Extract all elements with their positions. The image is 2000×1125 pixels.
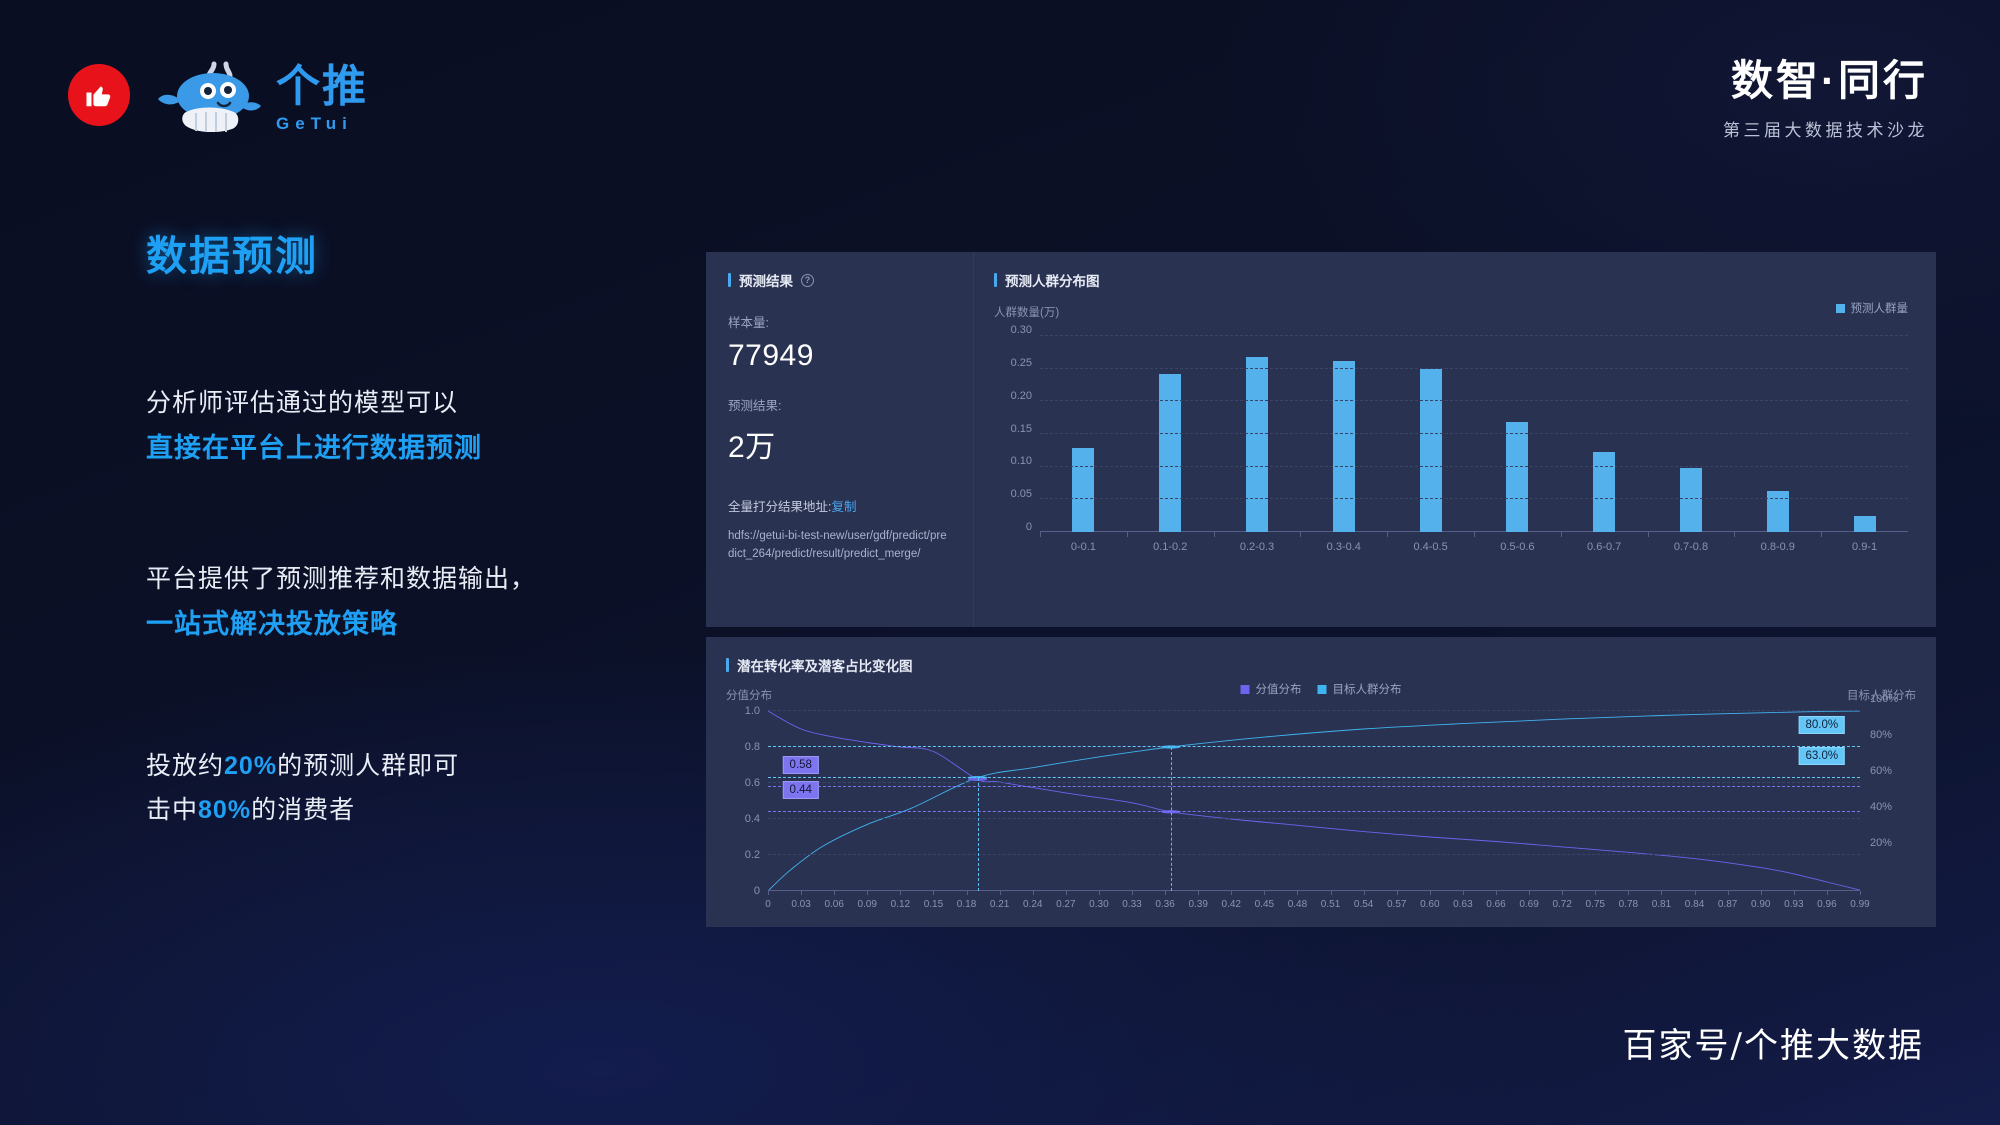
line-x-tickmark (867, 891, 868, 895)
line-chart-header: 潜在转化率及潜客占比变化图 (726, 655, 1916, 675)
line-x-tickmark (1728, 891, 1729, 895)
line-series-svg (768, 711, 1860, 891)
gridline: 0.6 (768, 782, 1860, 783)
page-title: 数据预测 (146, 222, 318, 282)
line-left-axis-name: 分值分布 (726, 687, 772, 703)
legend-item[interactable]: 目标人群分布 (1318, 681, 1402, 697)
line-x-tick-label: 0.87 (1718, 899, 1737, 910)
event-title: 数智·同行 (1723, 56, 1928, 106)
conversion-rate-title: 潜在转化率及潜客占比变化图 (726, 655, 913, 675)
line-x-tick-label: 0.39 (1188, 899, 1207, 910)
bar-x-tick-label: 0.2-0.3 (1240, 541, 1274, 553)
bar-y-tick: 0.15 (1011, 423, 1032, 435)
line-x-tickmark (1695, 891, 1696, 895)
line-x-tick-label: 0.63 (1453, 899, 1472, 910)
gridline: 0.10 (1040, 466, 1908, 467)
line-x-tick-label: 0.54 (1354, 899, 1373, 910)
bar[interactable] (1333, 361, 1355, 532)
bar-slot[interactable]: 0.1-0.2 (1127, 326, 1214, 532)
bar-slot[interactable]: 0-0.1 (1040, 326, 1127, 532)
line-x-tick-label: 0.33 (1122, 899, 1141, 910)
line-x-tick-label: 0.30 (1089, 899, 1108, 910)
annotation-guide-line (768, 777, 1860, 778)
legend-item[interactable]: 分值分布 (1241, 681, 1302, 697)
bar-slot[interactable]: 0.2-0.3 (1214, 326, 1301, 532)
bar[interactable] (1506, 422, 1528, 532)
line-x-tick-label: 0.06 (824, 899, 843, 910)
line-x-tick-label: 0.48 (1288, 899, 1307, 910)
line-x-tickmark (1430, 891, 1431, 895)
line-plot-area: 00.20.40.60.81.020%40%60%80%100%00.030.0… (726, 707, 1916, 915)
line-x-tickmark (1529, 891, 1530, 895)
bar-x-tickmark (1127, 532, 1128, 537)
line-x-tick-label: 0.69 (1519, 899, 1538, 910)
legend-swatch (1241, 685, 1250, 694)
line-x-tick-label: 0.84 (1685, 899, 1704, 910)
line-x-tick-label: 0 (765, 899, 771, 910)
top-panel: 预测结果 ? 样本量: 77949 预测结果: 2万 全量打分结果地址:复制 h… (706, 252, 1936, 627)
stat-line-1: 投放约20%的预测人群即可 (146, 745, 459, 789)
question-mark-icon[interactable]: ? (801, 274, 814, 287)
legend-swatch (1836, 304, 1845, 313)
stat-suffix: 的预测人群即可 (277, 752, 459, 780)
copy-block-1: 分析师评估通过的模型可以 直接在平台上进行数据预测 (146, 382, 482, 465)
result-value: 2万 (728, 422, 951, 466)
bar-x-tick-label: 0.1-0.2 (1153, 541, 1187, 553)
stat-line-2: 击中80%的消费者 (146, 789, 459, 833)
gridline: 0 (768, 890, 1860, 891)
bar-chart-legend: 预测人群量 (1836, 300, 1909, 316)
brand-name-cn: 个推 (276, 65, 368, 109)
line-x-tick-label: 0.90 (1751, 899, 1770, 910)
bar-x-tickmark (1387, 532, 1388, 537)
line-x-tickmark (1331, 891, 1332, 895)
line-x-tickmark (1000, 891, 1001, 895)
population-distribution-title: 预测人群分布图 (994, 270, 1916, 290)
bar-y-axis-name: 人群数量(万) (994, 304, 1916, 320)
result-label: 预测结果: (728, 395, 951, 414)
line-x-tick-label: 0.72 (1552, 899, 1571, 910)
line-x-tick-label: 0.78 (1619, 899, 1638, 910)
line-x-tickmark (1595, 891, 1596, 895)
line-x-tick-label: 0.66 (1486, 899, 1505, 910)
line-y2-tick: 100% (1870, 693, 1898, 705)
line-x-tickmark (967, 891, 968, 895)
bar-x-tickmark (1734, 532, 1735, 537)
brand-logo-group: 个推 GeTui (68, 58, 368, 132)
line-x-tick-label: 0.12 (891, 899, 910, 910)
bar-y-tick: 0.05 (1011, 488, 1032, 500)
sample-size-value: 77949 (728, 339, 951, 373)
legend-swatch (1318, 685, 1327, 694)
bar-x-tick-label: 0.9-1 (1852, 541, 1877, 553)
thumbs-up-icon (68, 64, 130, 126)
line-x-tickmark (1231, 891, 1232, 895)
line-x-tick-label: 0.51 (1321, 899, 1340, 910)
bar-x-tick-label: 0.3-0.4 (1327, 541, 1361, 553)
population-distribution-card: 预测人群分布图 人群数量(万) 预测人群量 0-0.10.1-0.20.2-0.… (974, 252, 1936, 627)
line-x-tickmark (801, 891, 802, 895)
hdfs-path-value: hdfs://getui-bi-test-new/user/gdf/predic… (728, 527, 951, 564)
card-title-text: 预测人群分布图 (1005, 270, 1100, 290)
line-y2-tick: 80% (1870, 729, 1892, 741)
score-address-row: 全量打分结果地址:复制 (728, 496, 951, 515)
copy-link[interactable]: 复制 (831, 500, 856, 514)
line-y-tick: 0.4 (745, 813, 760, 825)
stat-suffix: 的消费者 (251, 796, 355, 824)
line-x-tickmark (1496, 891, 1497, 895)
line-x-tickmark (1099, 891, 1100, 895)
annotation-guide-line (768, 786, 1860, 787)
chart-annotation-label: 80.0% (1798, 716, 1845, 734)
bar-x-tick-label: 0.5-0.6 (1500, 541, 1534, 553)
copy-line-normal: 平台提供了预测推荐和数据输出， (146, 558, 536, 602)
bar-x-tick-label: 0.4-0.5 (1413, 541, 1447, 553)
bar-x-tickmark (1300, 532, 1301, 537)
legend-label: 预测人群量 (1851, 300, 1909, 316)
line-x-tickmark (1364, 891, 1365, 895)
gridline: 0.25 (1040, 368, 1908, 369)
conversion-rate-card: 潜在转化率及潜客占比变化图 分值分布 目标人群分布 分值分布 目标人群分布 (706, 637, 1936, 927)
bar-y-tick: 0 (1026, 521, 1032, 533)
line-y2-tick: 40% (1870, 801, 1892, 813)
line-x-tick-label: 0.81 (1652, 899, 1671, 910)
copy-block-3: 投放约20%的预测人群即可 击中80%的消费者 (146, 745, 459, 833)
card-title-text: 预测结果 (739, 270, 793, 290)
copy-line-highlight: 直接在平台上进行数据预测 (146, 426, 482, 465)
line-plot-inner: 00.20.40.60.81.020%40%60%80%100%00.030.0… (768, 711, 1860, 891)
gridline: 0.15 (1040, 433, 1908, 434)
bar-y-tick: 0.20 (1011, 390, 1032, 402)
bar[interactable] (1680, 468, 1702, 532)
sample-size-label: 样本量: (728, 312, 951, 331)
bar-x-tick-label: 0-0.1 (1071, 541, 1096, 553)
line-x-tick-label: 0.21 (990, 899, 1009, 910)
stat-prefix: 击中 (146, 796, 198, 824)
stat-number: 20% (224, 752, 277, 780)
bar-y-tick: 0.25 (1011, 357, 1032, 369)
annotation-guide-vertical (978, 778, 979, 891)
gridline: 0.2 (768, 854, 1860, 855)
line-y2-tick: 60% (1870, 765, 1892, 777)
bar[interactable] (1854, 516, 1876, 532)
line-x-tickmark (1198, 891, 1199, 895)
bar-slot[interactable]: 0.8-0.9 (1734, 326, 1821, 532)
footer-credit: 百家号/个推大数据 (1623, 1018, 1924, 1067)
annotation-guide-vertical (1171, 747, 1172, 891)
bar-y-tick: 0.10 (1011, 455, 1032, 467)
prediction-result-card: 预测结果 ? 样本量: 77949 预测结果: 2万 全量打分结果地址:复制 h… (706, 252, 974, 627)
line-x-tick-label: 0.24 (1023, 899, 1042, 910)
dashboard-screenshot: 预测结果 ? 样本量: 77949 预测结果: 2万 全量打分结果地址:复制 h… (706, 252, 1936, 927)
bar[interactable] (1593, 452, 1615, 532)
bar-slot[interactable]: 0.6-0.7 (1561, 326, 1648, 532)
legend-item[interactable]: 预测人群量 (1836, 300, 1909, 316)
copy-line-normal: 分析师评估通过的模型可以 (146, 382, 482, 426)
bar-x-tickmark (1474, 532, 1475, 537)
annotation-guide-line (768, 811, 1860, 812)
line-x-tick-label: 0.27 (1056, 899, 1075, 910)
bar-x-tick-label: 0.6-0.7 (1587, 541, 1621, 553)
line-x-tickmark (1661, 891, 1662, 895)
bar-x-tickmark (1561, 532, 1562, 537)
gridline: 0.05 (1040, 498, 1908, 499)
line-x-tickmark (1794, 891, 1795, 895)
line-y-tick: 0.8 (745, 741, 760, 753)
slide-root: 个推 GeTui 数智·同行 第三届大数据技术沙龙 数据预测 分析师评估通过的模… (0, 0, 2000, 1125)
bar-slot[interactable]: 0.7-0.8 (1648, 326, 1735, 532)
line-x-tickmark (1264, 891, 1265, 895)
line-x-tickmark (1397, 891, 1398, 895)
bar-slot[interactable]: 0.4-0.5 (1387, 326, 1474, 532)
line-x-tick-label: 0.93 (1784, 899, 1803, 910)
line-x-tickmark (900, 891, 901, 895)
bar[interactable] (1420, 369, 1442, 532)
annotation-guide-line (768, 746, 1860, 747)
chart-annotation-label: 63.0% (1798, 747, 1845, 765)
line-x-tickmark (1033, 891, 1034, 895)
line-x-tick-label: 0.15 (924, 899, 943, 910)
line-y-tick: 0 (754, 885, 760, 897)
line-x-tickmark (834, 891, 835, 895)
line-x-tick-label: 0.09 (858, 899, 877, 910)
copy-line-highlight: 一站式解决投放策略 (146, 602, 536, 641)
legend-label: 目标人群分布 (1333, 681, 1402, 697)
line-x-tickmark (1860, 891, 1861, 895)
bar-x-tick-label: 0.8-0.9 (1761, 541, 1795, 553)
line-x-tickmark (1628, 891, 1629, 895)
line-x-tickmark (1066, 891, 1067, 895)
line-x-tickmark (1463, 891, 1464, 895)
line-path (768, 711, 1860, 891)
bar-x-tick-label: 0.7-0.8 (1674, 541, 1708, 553)
line-x-tickmark (1761, 891, 1762, 895)
line-x-tick-label: 0.42 (1222, 899, 1241, 910)
line-x-tick-label: 0.99 (1850, 899, 1869, 910)
copy-block-2: 平台提供了预测推荐和数据输出， 一站式解决投放策略 (146, 558, 536, 641)
bar-slot[interactable]: 0.3-0.4 (1300, 326, 1387, 532)
line-x-tick-label: 0.96 (1817, 899, 1836, 910)
bar-plot-inner: 0-0.10.1-0.20.2-0.30.3-0.40.4-0.50.5-0.6… (1040, 326, 1908, 532)
chart-annotation-label: 0.58 (783, 756, 819, 774)
gridline: 1.0 (768, 710, 1860, 711)
line-x-tick-label: 0.75 (1586, 899, 1605, 910)
line-x-tickmark (1165, 891, 1166, 895)
bar-x-tickmark (1214, 532, 1215, 537)
gridline: 0.30 (1040, 335, 1908, 336)
gridline: 0.20 (1040, 400, 1908, 401)
bar[interactable] (1072, 448, 1094, 532)
line-y-tick: 0.6 (745, 777, 760, 789)
whale-logo-icon: 个推 GeTui (156, 58, 368, 132)
event-subtitle: 第三届大数据技术沙龙 (1723, 116, 1928, 141)
line-y-tick: 1.0 (745, 705, 760, 717)
gridline: 0.4 (768, 818, 1860, 819)
bar-x-tickmark (1648, 532, 1649, 537)
stat-number: 80% (198, 796, 251, 824)
line-chart-legend: 分值分布 目标人群分布 (1241, 681, 1402, 697)
line-x-tickmark (1562, 891, 1563, 895)
bar[interactable] (1159, 374, 1181, 532)
score-address-label: 全量打分结果地址: (728, 500, 831, 514)
bar-x-tickmark (1821, 532, 1822, 537)
bar-series: 0-0.10.1-0.20.2-0.30.3-0.40.4-0.50.5-0.6… (1040, 326, 1908, 532)
line-x-tickmark (1297, 891, 1298, 895)
line-path (768, 711, 1860, 890)
line-x-tickmark (1132, 891, 1133, 895)
line-x-tick-label: 0.45 (1255, 899, 1274, 910)
line-x-tickmark (1827, 891, 1828, 895)
bar-plot-area: 0-0.10.1-0.20.2-0.30.3-0.40.4-0.50.5-0.6… (994, 326, 1916, 558)
line-y2-tick: 20% (1870, 837, 1892, 849)
line-x-tickmark (933, 891, 934, 895)
prediction-result-title: 预测结果 ? (728, 270, 951, 290)
stat-prefix: 投放约 (146, 752, 224, 780)
line-y-tick: 0.2 (745, 849, 760, 861)
legend-label: 分值分布 (1256, 681, 1302, 697)
chart-annotation-label: 0.44 (783, 781, 819, 799)
bar-slot[interactable]: 0.9-1 (1821, 326, 1908, 532)
bar-x-tickmark (1040, 532, 1041, 537)
line-x-tickmark (768, 891, 769, 895)
line-x-tick-label: 0.60 (1420, 899, 1439, 910)
bar[interactable] (1246, 357, 1268, 532)
bar-y-tick: 0.30 (1011, 324, 1032, 336)
line-x-tick-label: 0.03 (791, 899, 810, 910)
line-x-tick-label: 0.18 (957, 899, 976, 910)
line-x-tick-label: 0.57 (1387, 899, 1406, 910)
line-x-tick-label: 0.36 (1155, 899, 1174, 910)
brand-name-en: GeTui (276, 115, 368, 132)
card-title-text: 潜在转化率及潜客占比变化图 (737, 655, 913, 675)
bar[interactable] (1767, 491, 1789, 532)
bar-slot[interactable]: 0.5-0.6 (1474, 326, 1561, 532)
event-branding: 数智·同行 第三届大数据技术沙龙 (1723, 56, 1928, 141)
